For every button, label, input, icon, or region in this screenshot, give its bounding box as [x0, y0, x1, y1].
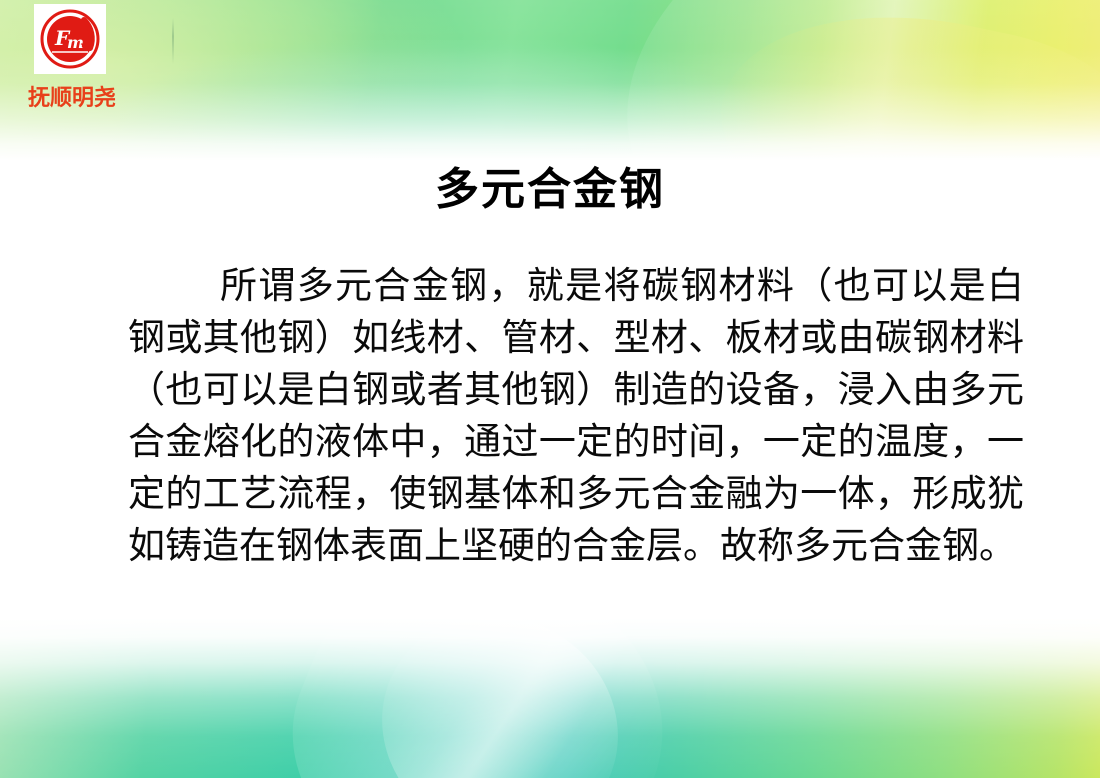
presentation-slide: F m y 抚顺明尧 多元合金钢 所谓多元合金钢，就是将碳钢材料（也可以是白钢或… [0, 0, 1100, 778]
company-name-label: 抚顺明尧 [12, 80, 132, 112]
bottom-banner-fade-overlay [0, 618, 1100, 778]
fmy-logo-icon: F m y [34, 4, 106, 74]
top-banner-fade-overlay [0, 0, 1100, 160]
bottom-decorative-banner [0, 618, 1100, 778]
page-title: 多元合金钢 [0, 150, 1100, 214]
slide-content: 多元合金钢 所谓多元合金钢，就是将碳钢材料（也可以是白钢或其他钢）如线材、管材、… [0, 150, 1100, 214]
svg-text:y: y [79, 37, 91, 56]
slide-body-paragraph: 所谓多元合金钢，就是将碳钢材料（也可以是白钢或其他钢）如线材、管材、型材、板材或… [128, 260, 1024, 572]
company-logo: F m y 抚顺明尧 [12, 4, 132, 112]
top-decorative-banner [0, 0, 1100, 160]
